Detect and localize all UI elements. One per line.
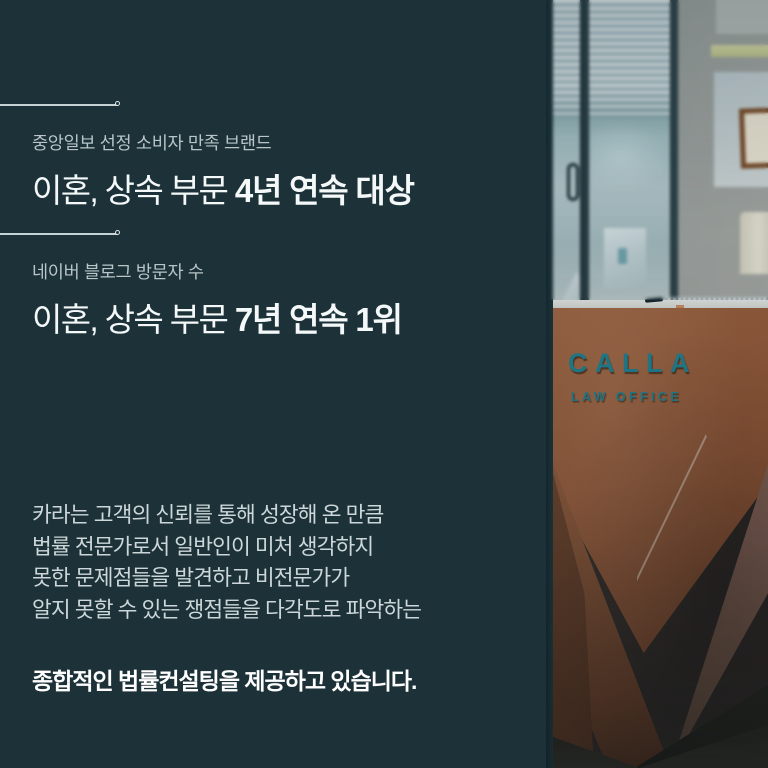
reception-desk: CALLA LAW OFFICE — [546, 308, 768, 768]
office-photograph: CALLA LAW OFFICE — [546, 0, 768, 768]
text-panel: 중앙일보 선정 소비자 만족 브랜드 이혼, 상속 부문 4년 연속 대상 네이… — [0, 0, 546, 768]
description-line: 카라는 고객의 신뢰를 통해 성장해 온 만큼 — [32, 500, 532, 532]
awards-section: 중앙일보 선정 소비자 만족 브랜드 이혼, 상속 부문 4년 연속 대상 네이… — [0, 96, 546, 341]
framed-certificate — [739, 107, 768, 168]
description-line: 법률 전문가로서 일반인이 미처 생각하지 — [32, 532, 532, 564]
divider-endpoint-dot — [115, 101, 120, 106]
wall-shelf — [711, 45, 768, 57]
divider-line-2 — [0, 225, 122, 243]
divider-rule — [0, 233, 118, 235]
award-title-2: 이혼, 상속 부문 7년 연속 1위 — [32, 293, 546, 341]
window-light-glow — [590, 120, 668, 195]
window-blinds — [546, 0, 673, 118]
award-block-1: 중앙일보 선정 소비자 만족 브랜드 이혼, 상속 부문 4년 연속 대상 — [0, 130, 546, 212]
divider-endpoint-dot — [115, 230, 120, 235]
award-title-1-strong: 4년 연속 대상 — [235, 172, 414, 209]
brand-name-text: CALLA — [568, 348, 697, 379]
awards-spacer — [0, 212, 546, 225]
award-title-2-strong: 7년 연속 1위 — [235, 301, 402, 338]
divider-rule — [0, 104, 118, 106]
promo-card: CALLA LAW OFFICE 중앙일보 선정 소비자 만족 브랜드 이혼, … — [0, 0, 768, 768]
wall-panel-top — [716, 0, 768, 34]
wall-cylinder-object — [740, 212, 768, 274]
award-title-2-regular: 이혼, 상속 부문 — [32, 301, 235, 338]
award-label-1: 중앙일보 선정 소비자 만족 브랜드 — [32, 130, 546, 155]
award-title-1: 이혼, 상속 부문 4년 연속 대상 — [32, 164, 546, 212]
calla-signage: CALLA LAW OFFICE — [568, 348, 697, 404]
description-section: 카라는 고객의 신뢰를 통해 성장해 온 만큼 법률 전문가로서 일반인이 미처… — [32, 500, 532, 696]
door-handle — [567, 163, 579, 201]
door-mullion-right — [670, 0, 678, 300]
award-title-1-regular: 이혼, 상속 부문 — [32, 172, 235, 209]
award-label-2: 네이버 블로그 방문자 수 — [32, 259, 546, 284]
divider-line-1 — [0, 96, 122, 114]
door-mullion-left — [580, 0, 589, 300]
interior-teal-object — [618, 248, 627, 264]
description-line: 알지 못할 수 있는 쟁점들을 다각도로 파악하는 — [32, 595, 532, 627]
door-frame-left — [546, 0, 553, 768]
award-block-2: 네이버 블로그 방문자 수 이혼, 상속 부문 7년 연속 1위 — [0, 259, 546, 341]
description-closing-line: 종합적인 법률컨설팅을 제공하고 있습니다. — [32, 662, 532, 696]
description-line: 못한 문제점들을 발견하고 비전문가가 — [32, 563, 532, 595]
brand-tagline-text: LAW OFFICE — [571, 390, 697, 404]
